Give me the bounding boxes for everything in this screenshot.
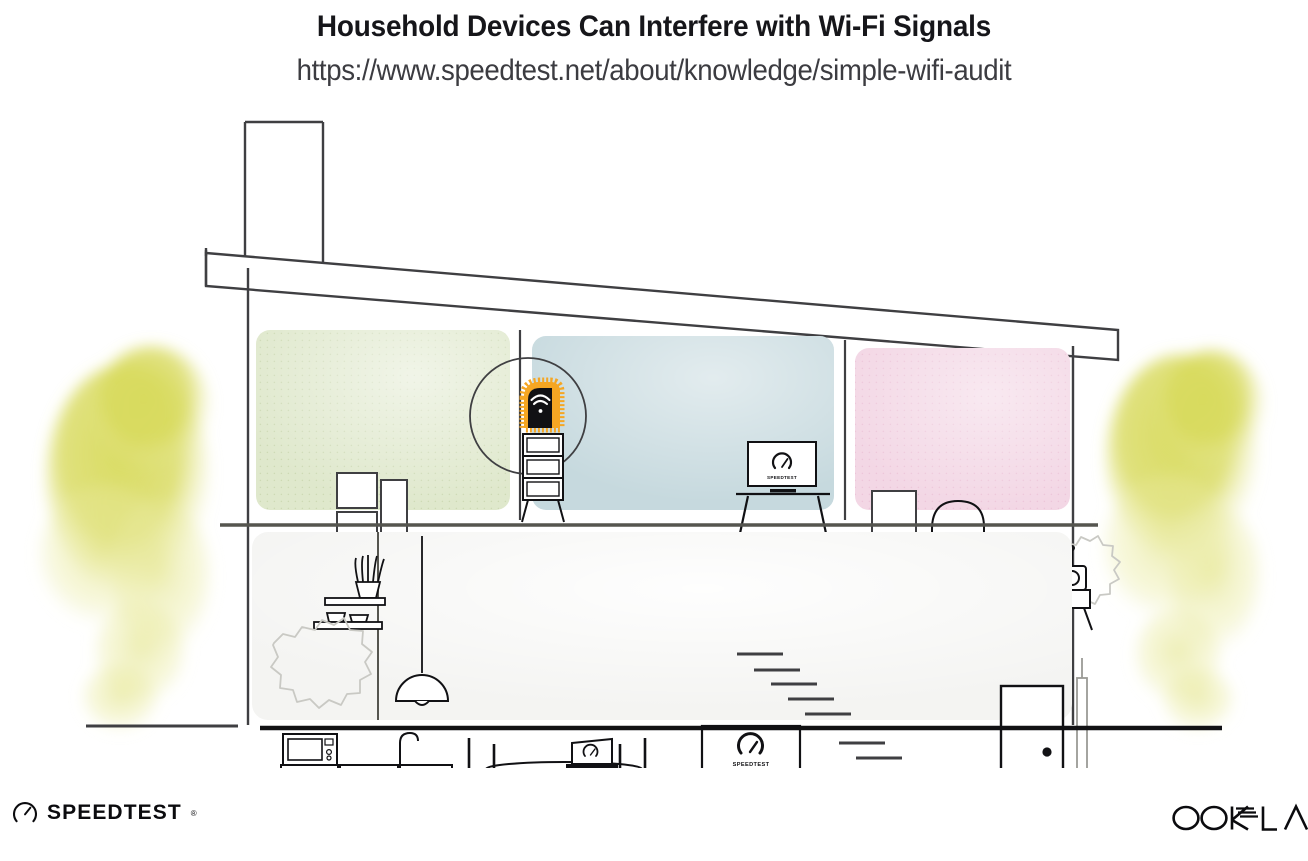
ookla-logo[interactable] — [1164, 802, 1308, 839]
speedtest-trademark-symbol: ® — [191, 809, 197, 818]
wifi-router[interactable] — [524, 382, 560, 428]
kitchen-faucet — [400, 733, 418, 765]
living-room-tv[interactable]: SPEEDTEST — [702, 726, 800, 768]
room-nursery-pink — [855, 348, 1070, 510]
microwave-oven[interactable] — [283, 734, 337, 765]
ground-line — [86, 726, 1222, 728]
footer: SPEEDTEST ® — [0, 786, 1308, 846]
kitchen-counters — [281, 765, 452, 768]
dining-table — [486, 762, 642, 768]
living-tv-logo-text: SPEEDTEST — [733, 762, 770, 768]
chimney — [245, 122, 323, 268]
speedtest-logo[interactable]: SPEEDTEST ® — [12, 800, 197, 826]
sidelight-window — [1077, 658, 1087, 768]
foliage-left — [38, 346, 212, 732]
laptop[interactable] — [566, 739, 618, 768]
tv-screen-logo-text: SPEEDTEST — [767, 475, 797, 480]
kitchen-shelf-upper — [325, 598, 385, 605]
page-title: Household Devices Can Interfere with Wi-… — [46, 0, 1262, 44]
ookla-wordmark-icon — [1164, 802, 1308, 834]
speedtest-wordmark: SPEEDTEST — [47, 801, 182, 825]
bedroom-tv[interactable]: SPEEDTEST — [748, 442, 816, 492]
infographic-canvas: Household Devices Can Interfere with Wi-… — [0, 0, 1308, 861]
door-knob-icon[interactable] — [1042, 747, 1051, 756]
source-url: https://www.speedtest.net/about/knowledg… — [52, 44, 1255, 88]
foliage-right — [1102, 350, 1264, 732]
house-cutaway-illustration: SPEEDTEST — [0, 108, 1308, 768]
dining-chair-left — [466, 738, 497, 768]
speedtest-gauge-icon — [12, 800, 38, 826]
header: Household Devices Can Interfere with Wi-… — [0, 0, 1308, 88]
